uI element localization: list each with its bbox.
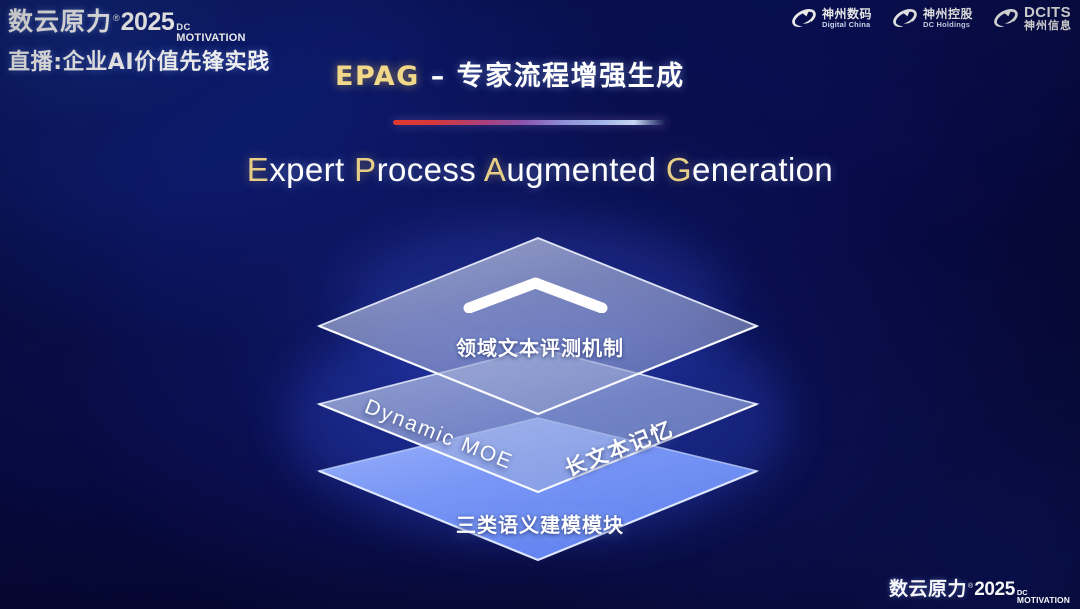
footer-watermark: 数云原力 ® 2025 DC MOTIVATION bbox=[889, 574, 1070, 605]
logo-dcits: DCITS 神州信息 bbox=[993, 5, 1072, 32]
logo-digital-china-en: Digital China bbox=[822, 21, 872, 29]
logo-dc-holdings-cn: 神州控股 bbox=[923, 8, 973, 20]
logo-digital-china-cn: 神州数码 bbox=[822, 8, 872, 20]
swirl-icon bbox=[993, 5, 1019, 31]
header-brand-motivation: MOTIVATION bbox=[176, 33, 245, 43]
chevron-up-icon bbox=[463, 277, 608, 313]
live-stream-label: 直播:企业AI价值先锋实践 bbox=[8, 44, 270, 76]
swirl-icon bbox=[791, 5, 817, 31]
header-brand-dc-motivation: DC MOTIVATION bbox=[176, 24, 245, 43]
subtitle-part-1: xpert bbox=[269, 151, 354, 188]
logo-dc-holdings-text: 神州控股 DC Holdings bbox=[923, 8, 973, 28]
watermark-year: 2025 bbox=[974, 579, 1015, 601]
subtitle-part-3: rocess bbox=[377, 151, 484, 188]
subtitle-part-2: P bbox=[354, 151, 376, 188]
watermark-brand-cn: 数云原力 bbox=[889, 574, 967, 601]
swirl-icon bbox=[892, 5, 918, 31]
logo-dcits-text: DCITS 神州信息 bbox=[1024, 5, 1072, 32]
header-brand-year: 2025 bbox=[121, 8, 175, 37]
logo-digital-china-text: 神州数码 Digital China bbox=[822, 8, 872, 28]
header-brand-cn: 数云原力 bbox=[8, 2, 112, 38]
page-title-acronym: EPAG bbox=[335, 61, 420, 92]
subtitle-part-0: E bbox=[247, 151, 269, 188]
subtitle-expert-process-augmented-generation: Expert Process Augmented Generation bbox=[0, 151, 1080, 189]
subtitle-part-4: A bbox=[484, 151, 506, 188]
page-title: EPAG – 专家流程增强生成 bbox=[335, 54, 685, 93]
logo-dcits-cn: 神州信息 bbox=[1024, 20, 1072, 31]
subtitle-part-7: eneration bbox=[692, 151, 833, 188]
layer-label-bottom: 三类语义建模模块 bbox=[0, 509, 1080, 538]
watermark-motivation: MOTIVATION bbox=[1017, 597, 1070, 605]
header-brand-registered-mark: ® bbox=[113, 13, 120, 23]
layer-label-top: 领域文本评测机制 bbox=[0, 332, 1080, 361]
subtitle-part-6: G bbox=[666, 151, 692, 188]
page-title-chinese: – 专家流程增强生成 bbox=[420, 61, 685, 92]
subtitle-part-5: ugmented bbox=[506, 151, 666, 188]
logo-dc-holdings-en: DC Holdings bbox=[923, 21, 973, 29]
watermark-registered-mark: ® bbox=[968, 583, 973, 590]
partner-logo-row: 神州数码 Digital China 神州控股 DC Holdings DCIT bbox=[791, 5, 1072, 32]
logo-dc-holdings: 神州控股 DC Holdings bbox=[892, 5, 973, 31]
logo-digital-china: 神州数码 Digital China bbox=[791, 5, 872, 31]
watermark-dc-motivation: DC MOTIVATION bbox=[1017, 590, 1070, 605]
logo-dcits-en: DCITS bbox=[1024, 5, 1072, 20]
header-brand-logo: 数云原力 ® 2025 DC MOTIVATION bbox=[8, 2, 246, 43]
gradient-divider bbox=[393, 120, 667, 125]
